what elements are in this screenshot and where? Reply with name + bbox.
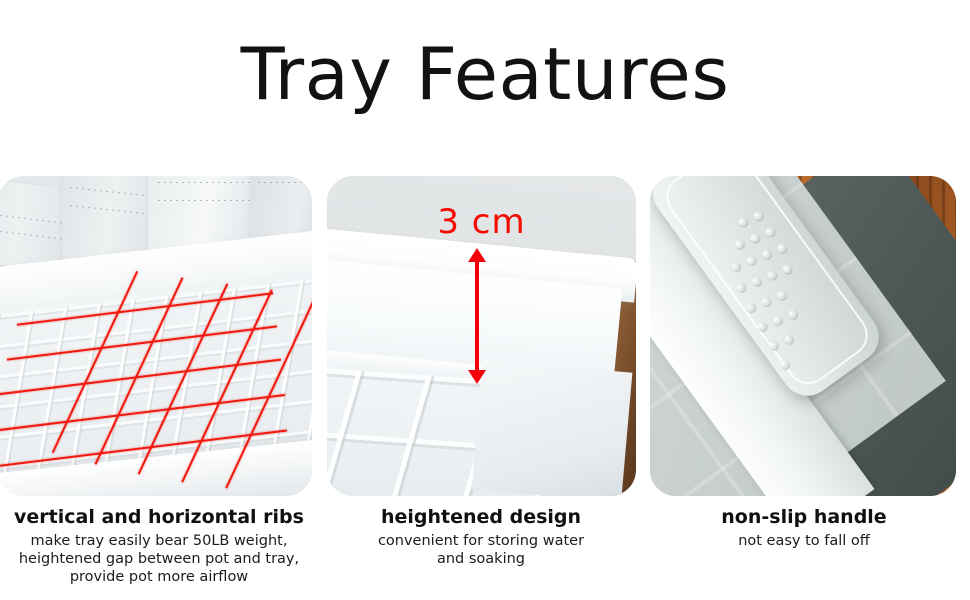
feature-panel-handle[interactable] xyxy=(650,176,956,496)
caption-subtitle: not easy to fall off xyxy=(648,532,960,550)
caption-line: convenient for storing water xyxy=(325,532,637,550)
red-grid-overlay xyxy=(0,176,312,496)
tray-handle-photo xyxy=(650,176,956,496)
caption-title: non-slip handle xyxy=(648,505,960,529)
caption-ribs: vertical and horizontal ribs make tray e… xyxy=(0,505,318,586)
tray-rim-photo: 3 cm xyxy=(327,176,636,496)
dimension-arrow-icon xyxy=(475,260,479,372)
page-title: Tray Features xyxy=(0,34,970,114)
caption-subtitle: convenient for storing water and soaking xyxy=(325,532,637,568)
caption-title: vertical and horizontal ribs xyxy=(0,505,318,529)
captions-row: vertical and horizontal ribs make tray e… xyxy=(0,505,970,600)
feature-panel-ribs[interactable] xyxy=(0,176,312,496)
caption-line: heightened gap between pot and tray, xyxy=(0,550,318,568)
caption-subtitle: make tray easily bear 50LB weight, heigh… xyxy=(0,532,318,586)
caption-handle: non-slip handle not easy to fall off xyxy=(648,505,960,550)
caption-line: provide pot more airflow xyxy=(0,568,318,586)
dimension-label: 3 cm xyxy=(327,202,636,242)
tray-ribs-photo xyxy=(0,176,312,496)
caption-line: not easy to fall off xyxy=(648,532,960,550)
caption-line: and soaking xyxy=(325,550,637,568)
feature-panel-strip: 3 cm xyxy=(0,176,970,496)
caption-line: make tray easily bear 50LB weight, xyxy=(0,532,318,550)
caption-title: heightened design xyxy=(325,505,637,529)
feature-panel-heightened[interactable]: 3 cm xyxy=(327,176,636,496)
caption-heightened: heightened design convenient for storing… xyxy=(325,505,637,568)
